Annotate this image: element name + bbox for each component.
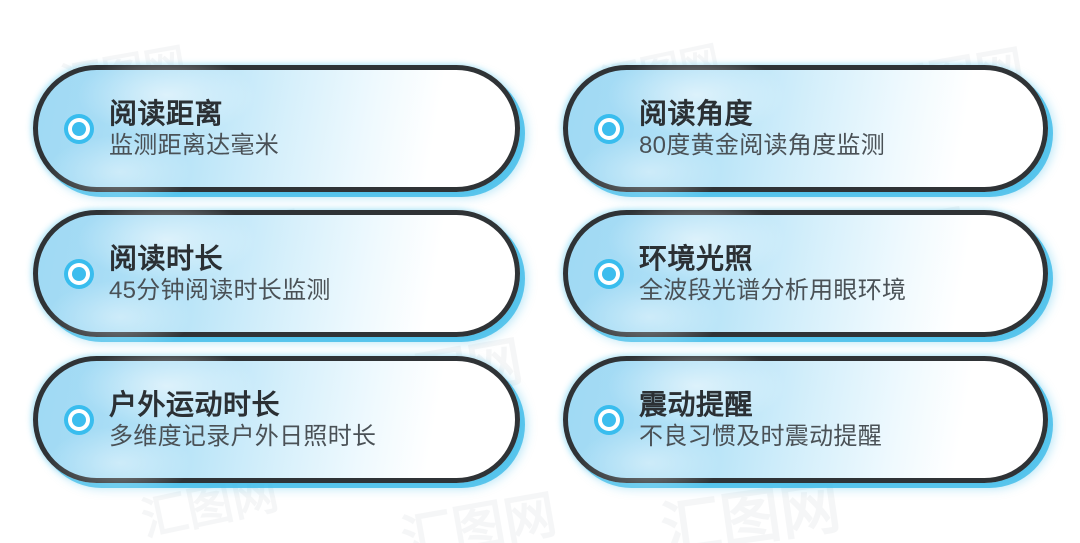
- feature-card-text: 阅读时长45分钟阅读时长监测: [109, 245, 349, 303]
- feature-card-subtitle: 监测距离达毫米: [109, 134, 279, 158]
- feature-card-title: 阅读时长: [109, 245, 331, 273]
- feature-card-text: 户外运动时长多维度记录户外日照时长: [109, 391, 394, 449]
- bullet-dot-core: [602, 267, 616, 281]
- feature-card-title: 环境光照: [639, 245, 906, 273]
- bullet-dot-core: [602, 413, 616, 427]
- bullet-dot-icon: [594, 405, 624, 435]
- feature-card-text: 震动提醒不良习惯及时震动提醒: [639, 391, 900, 449]
- bullet-dot-icon: [594, 114, 624, 144]
- bullet-dot-icon: [64, 114, 94, 144]
- feature-card-ambient-light[interactable]: 环境光照全波段光谱分析用眼环境: [563, 210, 1048, 337]
- feature-card-title: 震动提醒: [639, 391, 882, 419]
- bullet-dot-core: [602, 122, 616, 136]
- feature-card-text: 环境光照全波段光谱分析用眼环境: [639, 245, 924, 303]
- bullet-dot-ring: [598, 409, 620, 431]
- bullet-dot-icon: [594, 259, 624, 289]
- feature-card-text: 阅读角度80度黄金阅读角度监测: [639, 100, 903, 158]
- feature-card-title: 阅读距离: [109, 100, 279, 128]
- bullet-dot-ring: [598, 118, 620, 140]
- bullet-dot-ring: [68, 263, 90, 285]
- feature-card-subtitle: 不良习惯及时震动提醒: [639, 425, 882, 449]
- bullet-dot-core: [72, 413, 86, 427]
- feature-card-title: 户外运动时长: [109, 391, 376, 419]
- feature-card-subtitle: 全波段光谱分析用眼环境: [639, 279, 906, 303]
- feature-card-title: 阅读角度: [639, 100, 885, 128]
- feature-card-reading-duration[interactable]: 阅读时长45分钟阅读时长监测: [33, 210, 520, 337]
- feature-card-grid: 阅读距离监测距离达毫米阅读角度80度黄金阅读角度监测阅读时长45分钟阅读时长监测…: [0, 0, 1080, 543]
- feature-card-outdoor-activity-duration[interactable]: 户外运动时长多维度记录户外日照时长: [33, 356, 520, 483]
- bullet-dot-icon: [64, 405, 94, 435]
- feature-card-text: 阅读距离监测距离达毫米: [109, 100, 297, 158]
- bullet-dot-core: [72, 122, 86, 136]
- feature-card-subtitle: 45分钟阅读时长监测: [109, 279, 331, 303]
- feature-card-vibration-reminder[interactable]: 震动提醒不良习惯及时震动提醒: [563, 356, 1048, 483]
- feature-card-reading-distance[interactable]: 阅读距离监测距离达毫米: [33, 65, 520, 192]
- bullet-dot-core: [72, 267, 86, 281]
- bullet-dot-ring: [598, 263, 620, 285]
- bullet-dot-icon: [64, 259, 94, 289]
- bullet-dot-ring: [68, 118, 90, 140]
- feature-card-subtitle: 80度黄金阅读角度监测: [639, 134, 885, 158]
- feature-card-reading-angle[interactable]: 阅读角度80度黄金阅读角度监测: [563, 65, 1048, 192]
- bullet-dot-ring: [68, 409, 90, 431]
- feature-card-subtitle: 多维度记录户外日照时长: [109, 425, 376, 449]
